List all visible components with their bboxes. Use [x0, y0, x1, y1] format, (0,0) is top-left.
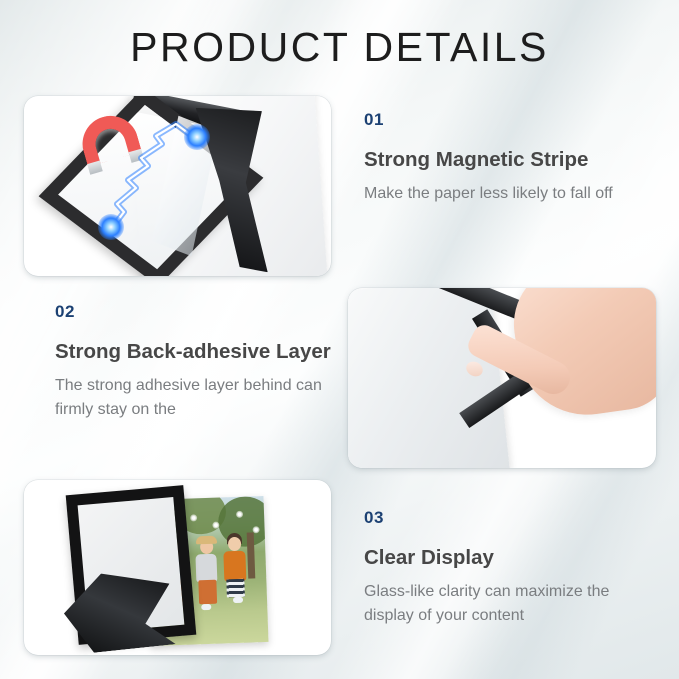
person-bottom: [226, 579, 245, 598]
electric-arc-icon: [24, 96, 331, 276]
shoe-shape: [233, 597, 243, 603]
person-head: [228, 537, 241, 551]
feature-text-1: 01 Strong Magnetic Stripe Make the paper…: [364, 110, 654, 206]
feature-text-2: 02 Strong Back-adhesive Layer The strong…: [55, 302, 345, 421]
tree-shape: [217, 496, 268, 548]
feature-description-2: The strong adhesive layer behind can fir…: [55, 374, 345, 421]
feature-heading-2: Strong Back-adhesive Layer: [55, 338, 345, 365]
feature-description-3: Glass-like clarity can maximize the disp…: [364, 580, 654, 627]
spark-node-bottom: [98, 214, 124, 240]
person-bottom: [198, 580, 217, 605]
page-title: PRODUCT DETAILS: [0, 24, 679, 71]
clear-display-illustration: [24, 480, 331, 655]
feature-image-card-1: [24, 96, 331, 276]
feature-heading-1: Strong Magnetic Stripe: [364, 146, 654, 173]
magnet-illustration: [24, 96, 331, 276]
person-hat: [196, 536, 217, 545]
feature-text-3: 03 Clear Display Glass-like clarity can …: [364, 508, 654, 627]
shoe-shape: [201, 604, 211, 610]
adhesive-illustration: [348, 288, 656, 468]
feature-heading-3: Clear Display: [364, 544, 654, 571]
feature-image-card-2: [348, 288, 656, 468]
spark-node-top: [184, 124, 210, 150]
feature-description-1: Make the paper less likely to fall off: [364, 182, 654, 206]
person-top: [223, 551, 246, 582]
feature-number-3: 03: [364, 508, 654, 528]
person-top: [195, 554, 217, 583]
feature-number-1: 01: [364, 110, 654, 130]
feature-number-2: 02: [55, 302, 345, 322]
feature-image-card-3: [24, 480, 331, 655]
